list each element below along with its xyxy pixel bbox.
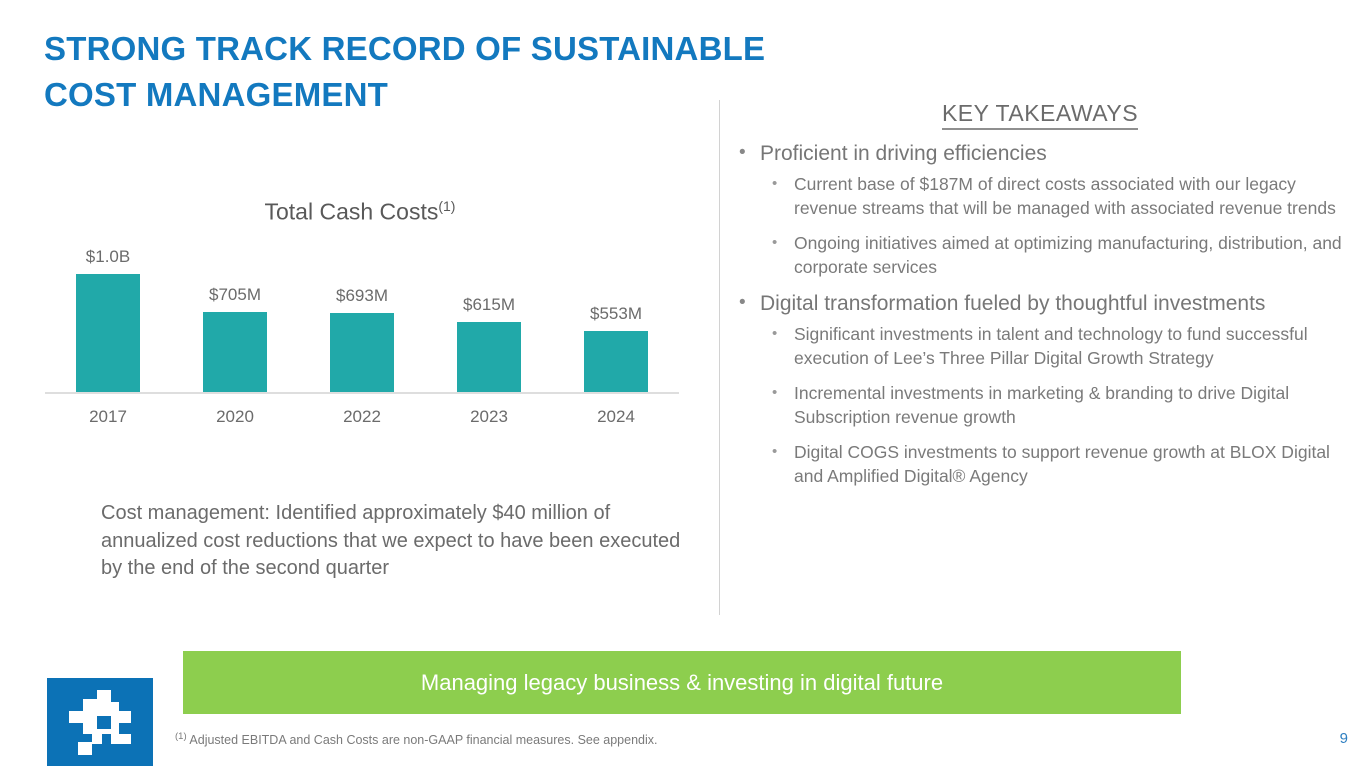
footnote-superscript: (1): [175, 731, 187, 742]
bar-value-label: $615M: [426, 295, 552, 315]
page-number: 9: [1340, 730, 1348, 747]
takeaway-sub-text: Digital COGS investments to support reve…: [794, 442, 1330, 486]
takeaway-sub-bullet: • Incremental investments in marketing &…: [730, 381, 1350, 429]
bar-rect[interactable]: [330, 313, 394, 393]
bar-slot-2022: $693M: [299, 240, 425, 393]
key-takeaways-heading: KEY TAKEAWAYS: [740, 100, 1340, 127]
chart-axis-line: [45, 392, 679, 394]
axis-tick-2024: 2024: [553, 407, 679, 427]
takeaway-primary-bullet: • Proficient in driving efficiencies: [730, 140, 1350, 168]
lee-enterprises-logo: [47, 678, 153, 766]
axis-tick-2022: 2022: [299, 407, 425, 427]
bullet-glyph-icon: •: [772, 172, 777, 196]
takeaway-sub-bullet: • Significant investments in talent and …: [730, 322, 1350, 370]
bar-slot-2024: $553M: [553, 240, 679, 393]
bullet-glyph-icon: •: [772, 381, 777, 405]
bar-value-label: $1.0B: [45, 247, 171, 267]
bar-value-label: $693M: [299, 286, 425, 306]
bar-rect[interactable]: [203, 312, 267, 393]
footnote: (1) Adjusted EBITDA and Cash Costs are n…: [175, 731, 658, 747]
bullet-glyph-icon: •: [739, 289, 746, 317]
takeaway-sub-text: Incremental investments in marketing & b…: [794, 383, 1289, 427]
bar-rect[interactable]: [76, 274, 140, 393]
takeaway-sub-bullet: • Digital COGS investments to support re…: [730, 440, 1350, 488]
bar-slot-2020: $705M: [172, 240, 298, 393]
cost-management-paragraph: Cost management: Identified approximatel…: [101, 500, 681, 583]
bar-slot-2023: $615M: [426, 240, 552, 393]
summary-banner: Managing legacy business & investing in …: [183, 651, 1181, 714]
takeaway-sub-bullet: • Ongoing initiatives aimed at optimizin…: [730, 231, 1350, 279]
axis-tick-2017: 2017: [45, 407, 171, 427]
bullet-glyph-icon: •: [772, 231, 777, 255]
bar-rect[interactable]: [457, 322, 521, 393]
bar-value-label: $705M: [172, 285, 298, 305]
takeaway-group-1: • Proficient in driving efficiencies • C…: [730, 140, 1350, 279]
takeaway-sub-text: Ongoing initiatives aimed at optimizing …: [794, 233, 1342, 277]
takeaway-primary-bullet: • Digital transformation fueled by thoug…: [730, 290, 1350, 318]
takeaway-sub-text: Current base of $187M of direct costs as…: [794, 174, 1336, 218]
summary-banner-text: Managing legacy business & investing in …: [421, 670, 943, 696]
axis-tick-2023: 2023: [426, 407, 552, 427]
bar-chart: $1.0B $705M $693M $615M $553M 2017 2020 …: [45, 240, 679, 435]
slide-canvas: STRONG TRACK RECORD OF SUSTAINABLE COST …: [0, 0, 1365, 768]
key-takeaways-heading-text: KEY TAKEAWAYS: [942, 100, 1138, 130]
key-takeaways-list: • Proficient in driving efficiencies • C…: [730, 140, 1350, 499]
takeaway-group-2: • Digital transformation fueled by thoug…: [730, 290, 1350, 488]
bar-slot-2017: $1.0B: [45, 240, 171, 393]
bar-rect[interactable]: [584, 331, 648, 393]
bullet-glyph-icon: •: [772, 440, 777, 464]
chart-title: Total Cash Costs(1): [40, 198, 680, 226]
footnote-text: Adjusted EBITDA and Cash Costs are non-G…: [187, 733, 658, 747]
takeaway-primary-text: Proficient in driving efficiencies: [760, 142, 1047, 165]
bullet-glyph-icon: •: [739, 139, 746, 167]
bullet-glyph-icon: •: [772, 322, 777, 346]
chart-title-superscript: (1): [438, 198, 455, 214]
axis-tick-2020: 2020: [172, 407, 298, 427]
takeaway-primary-text: Digital transformation fueled by thought…: [760, 292, 1265, 315]
takeaway-sub-text: Significant investments in talent and te…: [794, 324, 1308, 368]
chart-title-text: Total Cash Costs: [265, 199, 439, 225]
column-divider: [719, 100, 720, 615]
bar-value-label: $553M: [553, 304, 679, 324]
takeaway-sub-bullet: • Current base of $187M of direct costs …: [730, 172, 1350, 220]
